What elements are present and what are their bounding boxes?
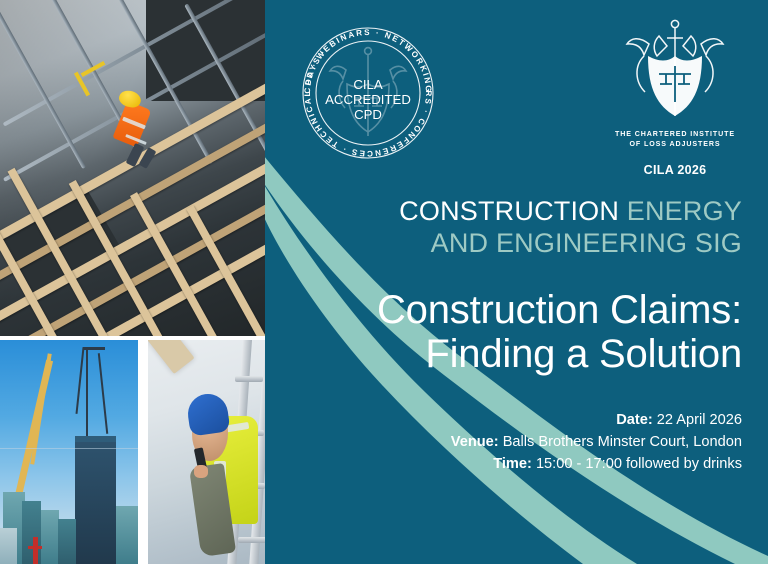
date-label: Date: (616, 412, 653, 428)
institute-name: THE CHARTERED INSTITUTE OF LOSS ADJUSTER… (600, 129, 750, 150)
content-panel: CPD · WEBINARS · NETWORKING SEMINARS · C… (265, 0, 768, 564)
time-value: 15:00 - 17:00 followed by drinks (536, 456, 742, 472)
venue-value: Balls Brothers Minster Court, London (503, 434, 742, 450)
event-details: Date: 22 April 2026 Venue: Balls Brother… (290, 410, 742, 476)
cila-year-label: CILA 2026 (600, 163, 750, 177)
svg-text:CILA: CILA (353, 77, 383, 92)
title-line-2: Finding a Solution (290, 332, 742, 376)
event-date-row: Date: 22 April 2026 (290, 410, 742, 432)
time-label: Time: (493, 456, 532, 472)
sig-construction: CONSTRUCTION (399, 196, 619, 226)
headline-block: CONSTRUCTION ENERGY AND ENGINEERING SIG … (290, 196, 742, 475)
cila-crest-block: THE CHARTERED INSTITUTE OF LOSS ADJUSTER… (600, 16, 750, 177)
photo-worker-radio-ladder (148, 340, 265, 564)
svg-text:CPD: CPD (354, 107, 382, 122)
svg-text:ACCREDITED: ACCREDITED (325, 92, 411, 107)
cpd-accredited-badge: CPD · WEBINARS · NETWORKING SEMINARS · C… (293, 18, 443, 168)
sig-line-2: AND ENGINEERING SIG (290, 228, 742, 260)
photo-aerial-scaffolding-worker (0, 0, 265, 336)
venue-label: Venue: (451, 434, 499, 450)
title-line-1: Construction Claims: (290, 288, 742, 332)
sig-line-1: CONSTRUCTION ENERGY (290, 196, 742, 228)
photo-crane-high-rise (0, 340, 138, 564)
event-venue-row: Venue: Balls Brothers Minster Court, Lon… (290, 432, 742, 454)
photo-column (0, 0, 265, 564)
event-time-row: Time: 15:00 - 17:00 followed by drinks (290, 454, 742, 476)
sig-energy: ENERGY (627, 196, 742, 226)
page-title: Construction Claims: Finding a Solution (290, 288, 742, 376)
cila-crest-icon (600, 16, 750, 120)
date-value: 22 April 2026 (657, 412, 742, 428)
event-poster: CPD · WEBINARS · NETWORKING SEMINARS · C… (0, 0, 768, 564)
